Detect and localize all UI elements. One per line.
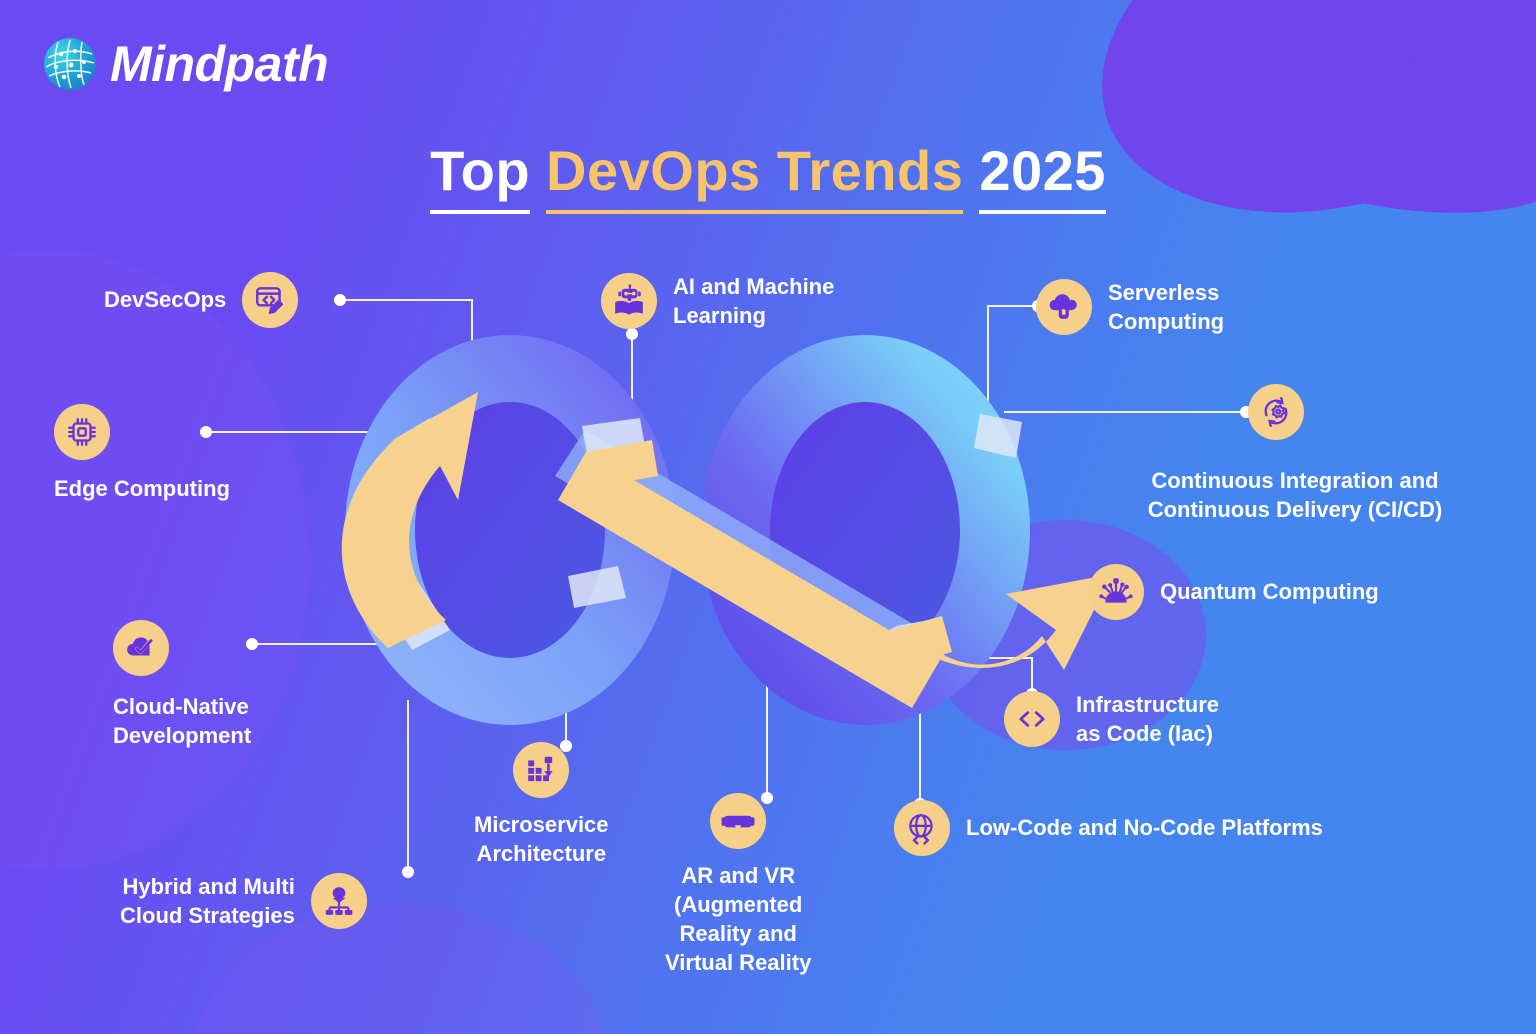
- node-quantum-computing[interactable]: Quantum Computing: [1088, 564, 1379, 620]
- infographic-canvas: Mindpath TopDevOps Trends2025: [0, 0, 1536, 1034]
- vr-headset-icon: [710, 793, 766, 849]
- node-label-microservice-architecture: Microservice Architecture: [474, 810, 609, 868]
- cloud-check-icon: [113, 620, 169, 676]
- node-label-edge-computing: Edge Computing: [54, 474, 230, 503]
- gear-cycle-icon: [1248, 384, 1304, 440]
- devops-infinity-symbol: [300, 330, 1100, 730]
- modular-blocks-arrow-icon: [513, 742, 569, 798]
- brand-logo[interactable]: Mindpath: [44, 38, 328, 90]
- robot-book-icon: [601, 273, 657, 329]
- node-hybrid-multi-cloud[interactable]: Hybrid and Multi Cloud Strategies: [120, 872, 367, 930]
- node-ci-cd-label: Continuous Integration and Continuous De…: [1080, 466, 1510, 524]
- node-label-infrastructure-as-code: Infrastructure as Code (Iac): [1076, 690, 1219, 748]
- brand-name: Mindpath: [110, 39, 328, 89]
- node-label-ci-cd: Continuous Integration and Continuous De…: [1080, 466, 1510, 524]
- node-infrastructure-as-code[interactable]: Infrastructure as Code (Iac): [1004, 690, 1219, 748]
- node-ai-machine-learning[interactable]: AI and Machine Learning: [601, 272, 834, 330]
- node-serverless-computing[interactable]: Serverless Computing: [1036, 278, 1224, 336]
- network-sphere-icon: [44, 38, 96, 90]
- node-ar-vr[interactable]: AR and VR (Augmented Reality and Virtual…: [665, 793, 811, 977]
- cloud-hierarchy-icon: [311, 873, 367, 929]
- cloud-lock-icon: [1036, 279, 1092, 335]
- node-label-ai-machine-learning: AI and Machine Learning: [673, 272, 834, 330]
- node-label-ar-vr: AR and VR (Augmented Reality and Virtual…: [665, 861, 811, 977]
- globe-code-icon: [894, 800, 950, 856]
- code-brackets-icon: [1004, 691, 1060, 747]
- node-label-quantum-computing: Quantum Computing: [1160, 577, 1379, 606]
- page-title: TopDevOps Trends2025: [0, 142, 1536, 214]
- node-label-hybrid-multi-cloud: Hybrid and Multi Cloud Strategies: [120, 872, 295, 930]
- quantum-atom-icon: [1088, 564, 1144, 620]
- node-cloud-native[interactable]: Cloud-Native Development: [113, 620, 251, 750]
- node-ci-cd-icon[interactable]: [1248, 384, 1304, 440]
- background-blob-left: [0, 250, 310, 870]
- node-microservice-architecture[interactable]: Microservice Architecture: [474, 742, 609, 868]
- node-label-devsecops: DevSecOps: [104, 285, 226, 314]
- node-edge-computing[interactable]: Edge Computing: [54, 404, 230, 503]
- title-part-1: Top: [430, 142, 530, 214]
- node-label-serverless-computing: Serverless Computing: [1108, 278, 1224, 336]
- cpu-chip-icon: [54, 404, 110, 460]
- node-devsecops[interactable]: DevSecOps: [104, 272, 298, 328]
- title-part-2: DevOps Trends: [546, 142, 963, 214]
- node-label-low-code-no-code: Low-Code and No-Code Platforms: [966, 813, 1323, 842]
- node-low-code-no-code[interactable]: Low-Code and No-Code Platforms: [894, 800, 1323, 856]
- title-part-3: 2025: [979, 142, 1106, 214]
- code-window-pen-icon: [242, 272, 298, 328]
- node-label-cloud-native: Cloud-Native Development: [113, 692, 251, 750]
